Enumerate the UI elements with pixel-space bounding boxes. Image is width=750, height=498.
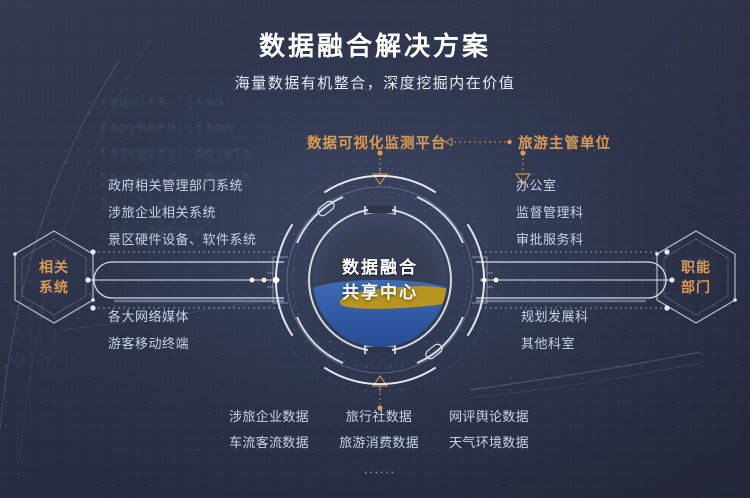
- bottom-data-grid: 涉旅企业数据 旅行社数据 网评舆论数据 车流客流数据 旅游消费数据 天气环境数据…: [225, 404, 535, 476]
- list-item: 监督管理科: [516, 199, 584, 226]
- dotted-left-arrow-icon: [444, 137, 514, 147]
- page-subtitle: 海量数据有机整合，深度挖掘内在价值: [0, 72, 750, 93]
- right-department-list-top: 办公室 监督管理科 审批服务科: [516, 172, 584, 253]
- left-source-list-top: 政府相关管理部门系统 涉旅企业相关系统 景区硬件设备、软件系统: [108, 172, 257, 253]
- list-item: 天气环境数据: [445, 430, 533, 456]
- data-flow-pipe-right: [476, 248, 676, 312]
- list-item: 旅游消费数据: [335, 430, 423, 456]
- list-item: 政府相关管理部门系统: [108, 172, 257, 199]
- list-item: 游客移动终端: [108, 330, 189, 357]
- data-flow-pipe-left: [84, 248, 284, 312]
- list-item: 旅行社数据: [335, 404, 423, 430]
- hexagon-label-line2: 部门: [681, 277, 711, 297]
- data-fusion-hub[interactable]: 数据融合 共享中心: [265, 165, 495, 395]
- page-title: 数据融合解决方案: [0, 26, 750, 63]
- hexagon-label-line2: 系统: [39, 277, 69, 297]
- hexagon-label-line1: 职能: [681, 257, 711, 277]
- list-item: 办公室: [516, 172, 584, 199]
- list-item: 车流客流数据: [225, 430, 313, 456]
- hexagon-label-line1: 相关: [39, 257, 69, 277]
- list-item: 其他科室: [521, 330, 589, 357]
- infographic-canvas: require 'json' Capybara::json Category::…: [0, 0, 750, 498]
- list-item: 涉旅企业相关系统: [108, 199, 257, 226]
- list-item: 涉旅企业数据: [225, 404, 313, 430]
- top-label-row: 数据可视化监测平台 旅游主管单位: [0, 132, 750, 152]
- hub-label: 数据融合 共享中心: [313, 213, 447, 347]
- ellipsis-indicator: ......: [225, 462, 535, 476]
- hub-label-line2: 共享中心: [342, 280, 418, 305]
- table-row: 车流客流数据 旅游消费数据 天气环境数据: [225, 430, 535, 456]
- list-item: 网评舆论数据: [445, 404, 533, 430]
- table-row: 涉旅企业数据 旅行社数据 网评舆论数据: [225, 404, 535, 430]
- hub-label-line1: 数据融合: [342, 255, 418, 280]
